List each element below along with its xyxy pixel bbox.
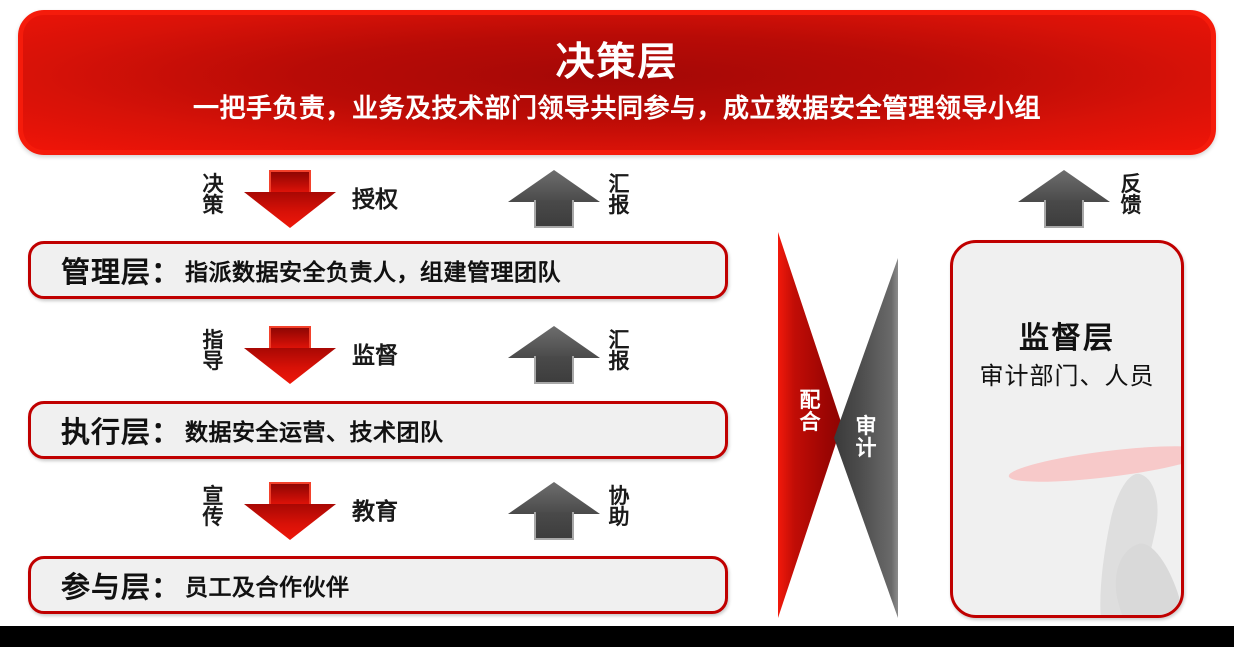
feedback-arrow-stem	[1044, 200, 1084, 228]
up-arrow-head	[508, 326, 600, 358]
execution-layer-desc: 数据安全运营、技术团队	[181, 413, 444, 447]
up-arrow-head	[508, 170, 600, 202]
bottom-black-bar	[0, 626, 1234, 647]
arrow-row-2-up-label-line2: 报	[606, 351, 632, 372]
participation-layer-desc: 员工及合作伙伴	[181, 568, 350, 602]
down-arrow-head	[244, 348, 336, 384]
feedback-label-line2: 馈	[1118, 195, 1144, 216]
arrow-row-2-down-label: 监督	[352, 344, 398, 367]
feedback-label: 反 馈	[1118, 174, 1144, 216]
arrow-row-3-up-label-line1: 协	[606, 486, 632, 507]
arrow-row-2: 指 导 监督 汇 报	[0, 322, 740, 386]
management-layer-box: 管理层： 指派数据安全负责人，组建管理团队	[28, 241, 728, 299]
cooperate-label-line2: 合	[798, 412, 822, 434]
arrow-row-2-up-label: 汇 报	[606, 330, 632, 372]
arrow-row-1-left-label-line1: 决	[200, 174, 226, 195]
arrow-row-1-up-label-line2: 报	[606, 195, 632, 216]
arrow-row-3-up-label-line2: 助	[606, 507, 632, 528]
cooperate-label: 配 合	[798, 390, 822, 434]
arrow-row-2-left-label: 指 导	[200, 330, 226, 372]
up-arrow-stem	[534, 200, 574, 228]
feedback-label-line1: 反	[1118, 174, 1144, 195]
arrow-row-3-up-label: 协 助	[606, 486, 632, 528]
participation-layer-title: 参与层：	[61, 564, 181, 606]
down-arrow-head	[244, 504, 336, 540]
arrow-row-2-up-label-line1: 汇	[606, 330, 632, 351]
supervision-layer-box: 监督层 审计部门、人员	[950, 240, 1184, 618]
feedback-up-arrow-icon	[1018, 170, 1110, 228]
arrow-row-1-left-label: 决 策	[200, 174, 226, 216]
cooperate-label-line1: 配	[798, 390, 822, 412]
feedback-arrow-head	[1018, 170, 1110, 202]
arrow-row-1-down-label: 授权	[352, 188, 398, 211]
down-arrow-icon-1	[244, 170, 336, 228]
arrow-row-1-up-label: 汇 报	[606, 174, 632, 216]
down-arrow-stem	[269, 326, 311, 350]
arrow-row-1-up-label-line1: 汇	[606, 174, 632, 195]
up-arrow-icon-3	[508, 482, 600, 540]
supervision-layer-title: 监督层	[953, 321, 1181, 357]
down-arrow-icon-3	[244, 482, 336, 540]
arrow-row-3-left-label-line1: 宣	[200, 486, 226, 507]
slide-canvas: 决策层 一把手负责，业务及技术部门领导共同参与，成立数据安全管理领导小组 决 策…	[0, 0, 1234, 647]
arrow-row-2-left-label-line1: 指	[200, 330, 226, 351]
watermark-pink-stroke	[1007, 439, 1184, 489]
supervision-layer-subtitle: 审计部门、人员	[953, 361, 1181, 392]
up-arrow-icon-1	[508, 170, 600, 228]
arrow-row-3-left-label: 宣 传	[200, 486, 226, 528]
arrow-row-1: 决 策 授权 汇 报	[0, 166, 740, 230]
participation-layer-box: 参与层： 员工及合作伙伴	[28, 556, 728, 614]
management-layer-desc: 指派数据安全负责人，组建管理团队	[181, 253, 561, 287]
down-arrow-icon-2	[244, 326, 336, 384]
up-arrow-stem	[534, 512, 574, 540]
bowtie-arrows: 配 合 审 计	[778, 232, 900, 618]
up-arrow-stem	[534, 356, 574, 384]
arrow-row-3: 宣 传 教育 协 助	[0, 478, 740, 542]
audit-label-line1: 审	[854, 416, 878, 438]
up-arrow-icon-2	[508, 326, 600, 384]
decision-layer-banner: 决策层 一把手负责，业务及技术部门领导共同参与，成立数据安全管理领导小组	[18, 10, 1216, 155]
down-arrow-stem	[269, 482, 311, 506]
management-layer-title: 管理层：	[61, 249, 181, 291]
arrow-row-1-left-label-line2: 策	[200, 195, 226, 216]
down-arrow-head	[244, 192, 336, 228]
audit-label: 审 计	[854, 416, 878, 460]
decision-layer-title: 决策层	[555, 43, 678, 84]
supervision-text-group: 监督层 审计部门、人员	[953, 321, 1181, 392]
arrow-row-3-down-label: 教育	[352, 500, 398, 523]
arrow-row-3-left-label-line2: 传	[200, 507, 226, 528]
audit-label-line2: 计	[854, 438, 878, 460]
execution-layer-title: 执行层：	[61, 409, 181, 451]
decision-layer-subtitle: 一把手负责，业务及技术部门领导共同参与，成立数据安全管理领导小组	[193, 94, 1041, 123]
arrow-row-2-left-label-line2: 导	[200, 351, 226, 372]
execution-layer-box: 执行层： 数据安全运营、技术团队	[28, 401, 728, 459]
down-arrow-stem	[269, 170, 311, 194]
up-arrow-head	[508, 482, 600, 514]
